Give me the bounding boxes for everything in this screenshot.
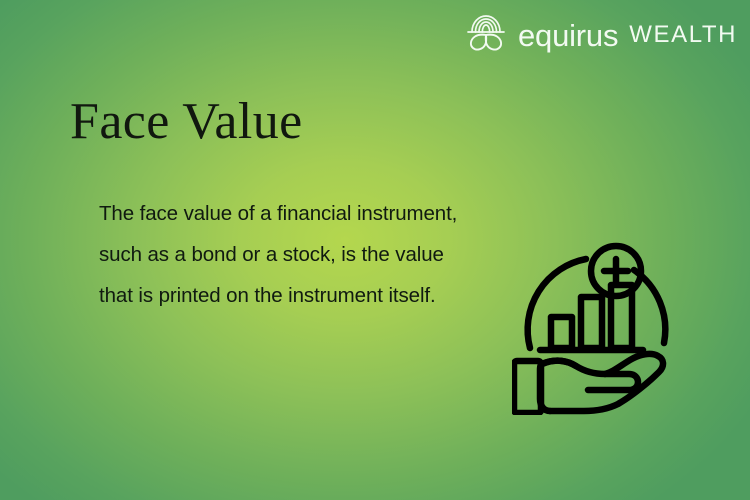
hand-thumb-icon [542,361,576,366]
body-line: The face value of a financial instrument… [99,193,519,234]
equirus-tree-logo-icon [462,13,510,55]
plus-icon [604,259,628,283]
body-line: that is printed on the instrument itself… [99,275,519,316]
brand-name-text: equirus [518,20,618,51]
bar-1-icon [551,317,572,348]
slide-canvas: equirus WEALTH Face Value The face value… [0,0,750,500]
page-title: Face Value [70,96,303,148]
brand-sub-text: WEALTH [629,23,737,47]
open-arc-icon [528,259,586,348]
bar-2-icon [581,297,602,348]
hand-holding-growth-chart-icon [512,240,687,415]
brand-logo[interactable]: equirus WEALTH [462,12,737,56]
body-line: such as a bond or a stock, is the value [99,234,519,275]
body-paragraph: The face value of a financial instrument… [99,193,519,316]
